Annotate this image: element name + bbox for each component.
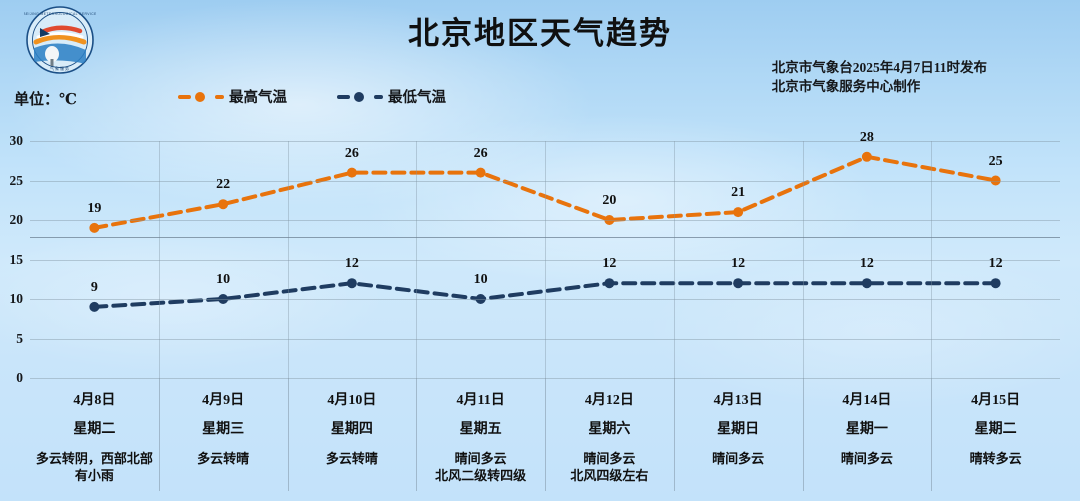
forecast-date: 4月12日 [545,392,674,410]
y-axis-tick-label: 0 [16,370,23,386]
forecast-weekday: 星期四 [288,421,417,439]
forecast-weekday: 星期日 [674,421,803,439]
data-point-marker [862,278,872,288]
forecast-day-column: 4月11日星期五晴间多云北风二级转四级 [416,378,545,501]
data-point-label: 12 [731,256,745,272]
forecast-day-column: 4月12日星期六晴间多云北风四级左右 [545,378,674,501]
data-point-marker [89,223,99,233]
column-divider [803,141,804,378]
data-point-label: 19 [87,201,101,217]
column-divider [674,141,675,378]
y-axis-tick-label: 15 [10,252,24,268]
forecast-date: 4月8日 [30,392,159,410]
forecast-day-column: 4月9日星期三多云转晴 [159,378,288,501]
unit-label: 单位：℃ [14,88,77,109]
forecast-description-line: 晴间多云 [549,450,670,467]
legend-label-high: 最高气温 [229,86,287,107]
x-axis-line [30,237,1060,238]
forecast-weekday: 星期一 [803,421,932,439]
column-divider [931,141,932,378]
forecast-description-line: 晴间多云 [807,450,928,467]
forecast-description-line: 多云转阴，西部北部 [34,450,155,467]
forecast-date: 4月9日 [159,392,288,410]
data-point-label: 28 [860,130,874,146]
forecast-day-column: 4月14日星期一晴间多云 [803,378,932,501]
column-divider [288,141,289,378]
forecast-description: 多云转晴 [288,450,417,467]
temperature-line-chart: 1922262620212825910121012121212 [30,141,1060,378]
column-divider [416,141,417,378]
forecast-date: 4月14日 [803,392,932,410]
forecast-description: 晴间多云北风二级转四级 [416,450,545,484]
chart-legend: 最高气温 最低气温 [178,86,446,107]
data-point-label: 12 [345,256,359,272]
forecast-description: 晴间多云北风四级左右 [545,450,674,484]
forecast-description-line: 北风二级转四级 [420,467,541,484]
column-divider [545,141,546,378]
forecast-table: 4月8日星期二多云转阴，西部北部有小雨4月9日星期三多云转晴4月10日星期四多云… [30,378,1060,501]
data-point-marker [347,168,357,178]
data-point-label: 25 [989,154,1003,170]
legend-item-high: 最高气温 [178,86,287,107]
data-point-label: 26 [474,146,488,162]
data-point-label: 22 [216,177,230,193]
forecast-date: 4月15日 [931,392,1060,410]
weather-trend-infographic: BEIJING METEOROLOGICAL SERVICE 气象服务 北京地区… [0,0,1080,501]
forecast-weekday: 星期三 [159,421,288,439]
page-title: 北京地区天气趋势 [0,8,1080,53]
data-point-label: 12 [602,256,616,272]
legend-label-low: 最低气温 [388,86,446,107]
forecast-description-line: 多云转晴 [292,450,413,467]
data-point-label: 9 [91,280,98,296]
data-point-marker [347,278,357,288]
forecast-description: 多云转阴，西部北部有小雨 [30,450,159,484]
forecast-description: 多云转晴 [159,450,288,467]
legend-swatch-low-icon [337,91,383,103]
data-point-label: 10 [216,272,230,288]
data-point-marker [862,152,872,162]
forecast-weekday: 星期二 [30,421,159,439]
forecast-description: 晴转多云 [931,450,1060,467]
data-point-marker [991,278,1001,288]
issuer-info: 北京市气象台2025年4月7日11时发布 北京市气象服务中心制作 [772,58,987,96]
forecast-description: 晴间多云 [803,450,932,467]
column-divider [159,141,160,378]
data-point-label: 20 [602,193,616,209]
data-point-marker [733,278,743,288]
y-axis-tick-label: 25 [10,173,24,189]
data-point-marker [733,207,743,217]
forecast-date: 4月11日 [416,392,545,410]
forecast-weekday: 星期二 [931,421,1060,439]
data-point-marker [476,168,486,178]
forecast-description-line: 晴间多云 [420,450,541,467]
svg-text:气象服务: 气象服务 [50,65,70,71]
data-point-marker [604,278,614,288]
data-point-marker [218,199,228,209]
forecast-day-column: 4月10日星期四多云转晴 [288,378,417,501]
forecast-description-line: 多云转晴 [163,450,284,467]
y-axis-tick-label: 5 [16,331,23,347]
forecast-date: 4月10日 [288,392,417,410]
legend-item-low: 最低气温 [337,86,446,107]
y-axis-tick-label: 30 [10,133,24,149]
data-point-label: 12 [989,256,1003,272]
y-axis-labels: 051015202530 [0,141,30,378]
data-point-label: 21 [731,185,745,201]
issuer-line-1: 北京市气象台2025年4月7日11时发布 [772,58,987,77]
forecast-description-line: 有小雨 [34,467,155,484]
forecast-date: 4月13日 [674,392,803,410]
forecast-description: 晴间多云 [674,450,803,467]
forecast-description-line: 晴转多云 [935,450,1056,467]
data-point-marker [89,302,99,312]
y-axis-tick-label: 20 [10,212,24,228]
legend-swatch-high-icon [178,91,224,103]
issuer-line-2: 北京市气象服务中心制作 [772,77,987,96]
forecast-day-column: 4月15日星期二晴转多云 [931,378,1060,501]
forecast-description-line: 北风四级左右 [549,467,670,484]
forecast-weekday: 星期五 [416,421,545,439]
data-point-label: 10 [474,272,488,288]
forecast-day-column: 4月8日星期二多云转阴，西部北部有小雨 [30,378,159,501]
forecast-description-line: 晴间多云 [678,450,799,467]
y-axis-tick-label: 10 [10,291,24,307]
data-point-label: 12 [860,256,874,272]
forecast-weekday: 星期六 [545,421,674,439]
forecast-day-column: 4月13日星期日晴间多云 [674,378,803,501]
data-point-label: 26 [345,146,359,162]
